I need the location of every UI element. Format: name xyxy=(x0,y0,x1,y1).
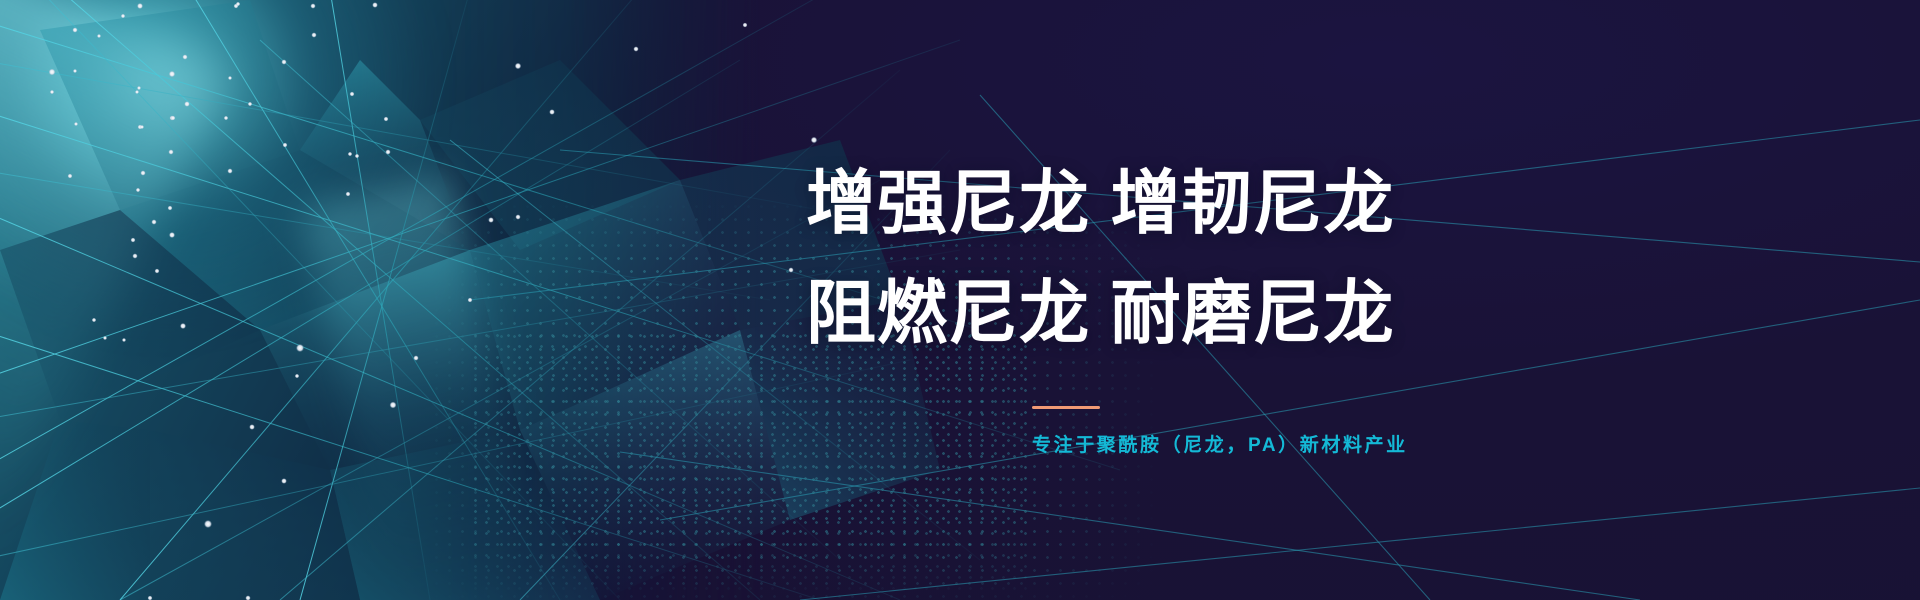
divider-wrap xyxy=(806,406,1566,409)
hero-subtitle: 专注于聚酰胺（尼龙，PA）新材料产业 xyxy=(806,430,1566,457)
headline-line-2: 阻燃尼龙 耐磨尼龙 xyxy=(806,258,1566,368)
hero-banner: 增强尼龙 增韧尼龙 阻燃尼龙 耐磨尼龙 专注于聚酰胺（尼龙，PA）新材料产业 xyxy=(0,0,1920,600)
hero-copy-block: 增强尼龙 增韧尼龙 阻燃尼龙 耐磨尼龙 专注于聚酰胺（尼龙，PA）新材料产业 xyxy=(806,148,1566,457)
orange-divider-rule xyxy=(1032,406,1100,409)
headline-line-1: 增强尼龙 增韧尼龙 xyxy=(806,148,1566,258)
